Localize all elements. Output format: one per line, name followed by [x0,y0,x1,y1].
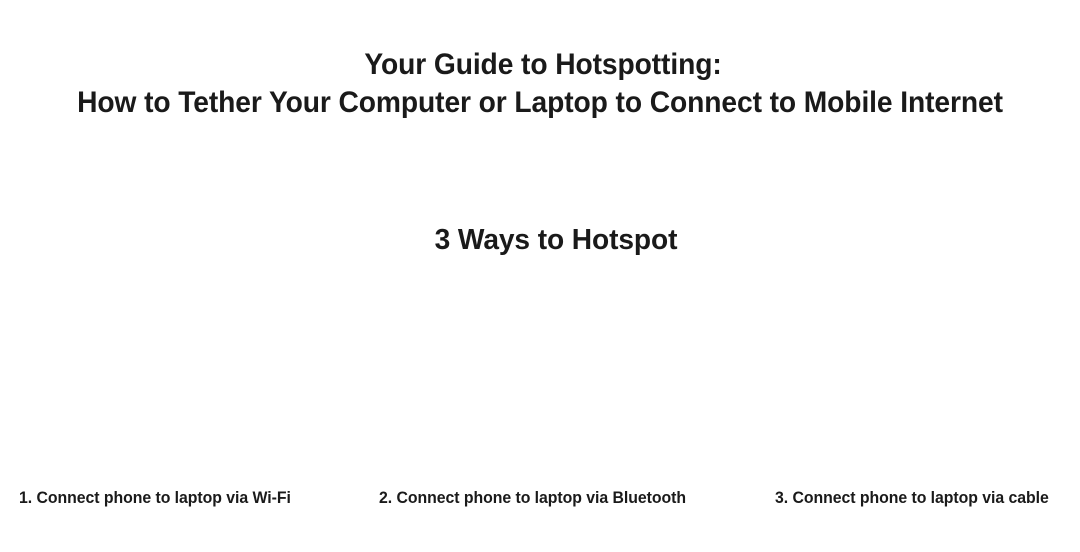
method-caption-2: 2. Connect phone to laptop via Bluetooth [379,487,686,509]
method-caption-1: 1. Connect phone to laptop via Wi-Fi [19,487,291,509]
infographic-page: Your Guide to Hotspotting: How to Tether… [0,0,1080,552]
page-title-line-2: How to Tether Your Computer or Laptop to… [32,84,1047,122]
phone-to-laptop-wifi-illustration [0,272,352,478]
caption-row: 1. Connect phone to laptop via Wi-Fi 2. … [0,487,1080,515]
section-heading: 3 Ways to Hotspot [32,221,1080,259]
phone-to-laptop-bluetooth-illustration [364,272,716,478]
page-title-line-1: Your Guide to Hotspotting: [38,46,1048,84]
page-title: Your Guide to Hotspotting: How to Tether… [0,46,1080,122]
method-caption-3: 3. Connect phone to laptop via cable [775,487,1049,509]
phone-to-laptop-cable-illustration [728,272,1080,478]
illustration-row [0,272,1080,478]
